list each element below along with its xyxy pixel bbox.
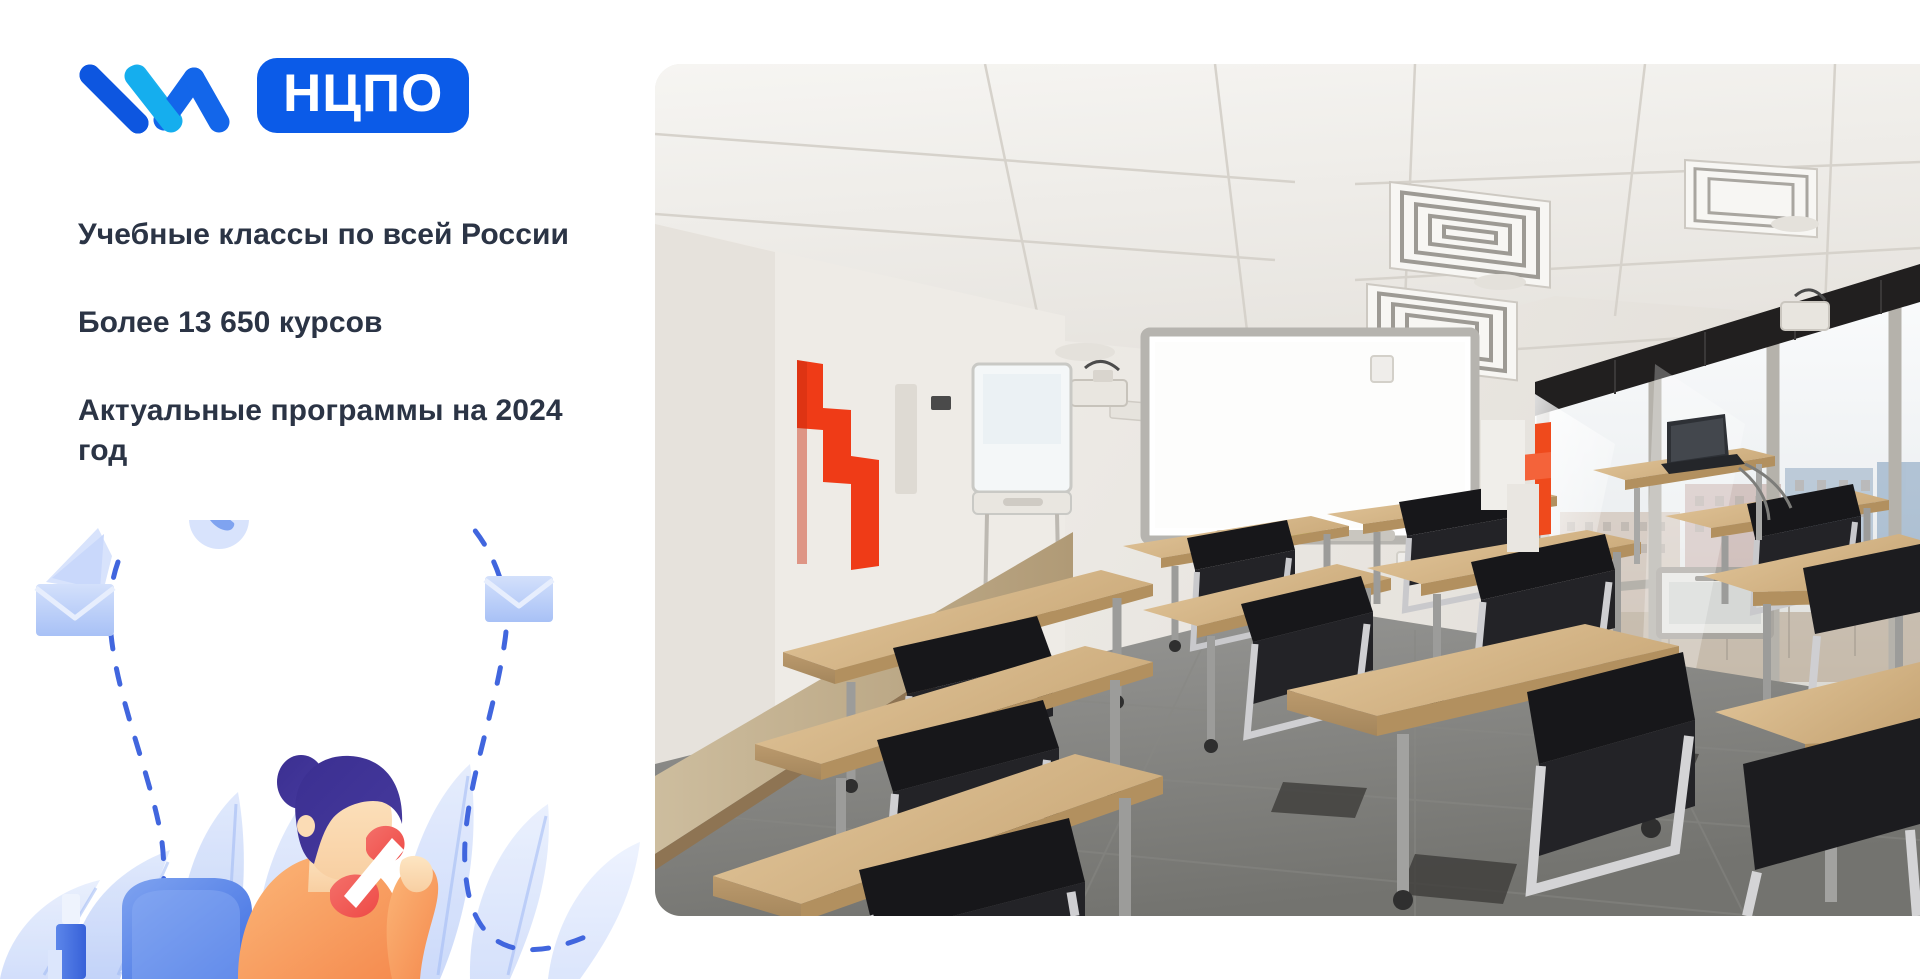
envelope-icon bbox=[485, 576, 553, 622]
headline-group: Учебные классы по всей России Более 13 6… bbox=[78, 215, 618, 471]
ncpo-chevron-logo-icon bbox=[76, 56, 231, 134]
operator-woman-figure bbox=[238, 755, 438, 979]
left-content-column: НЦПО Учебные классы по всей России Более… bbox=[0, 0, 655, 979]
headline-2: Более 13 650 курсов bbox=[78, 303, 618, 343]
brand-badge: НЦПО bbox=[257, 58, 469, 133]
classroom-photograph bbox=[655, 64, 1920, 916]
brand-badge-label: НЦПО bbox=[283, 67, 443, 120]
brand-logo[interactable]: НЦПО bbox=[76, 56, 469, 134]
phone-receiver-badge-icon bbox=[189, 520, 249, 549]
headline-3: Актуальные программы на 2024 год bbox=[78, 391, 618, 471]
promo-banner: НЦПО Учебные классы по всей России Более… bbox=[0, 0, 1920, 979]
office-chair-shape bbox=[122, 878, 252, 979]
call-center-operator-illustration bbox=[0, 520, 655, 979]
headline-1: Учебные классы по всей России bbox=[78, 215, 618, 255]
envelope-icon bbox=[36, 584, 114, 636]
